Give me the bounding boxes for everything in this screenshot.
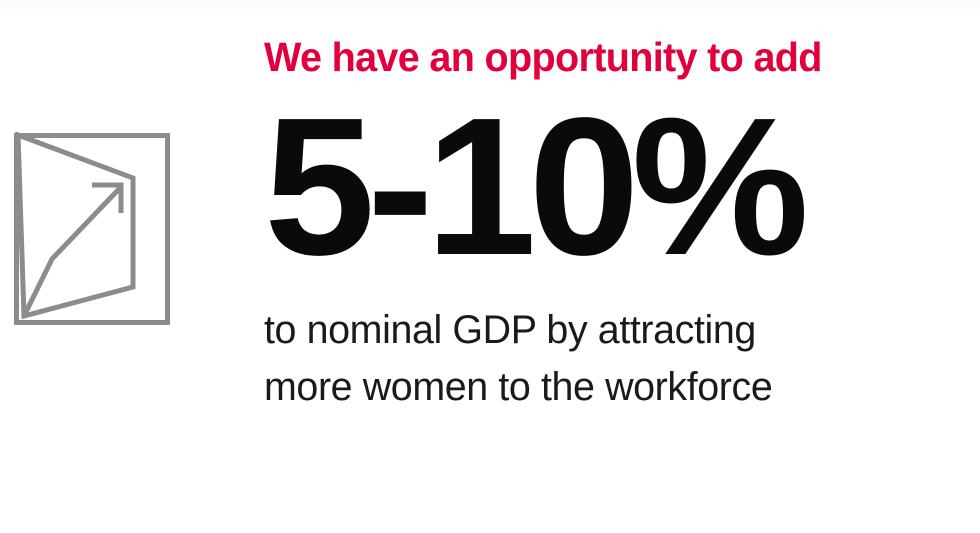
stat-eyebrow: We have an opportunity to add <box>264 34 940 80</box>
stat-callout-card: We have an opportunity to add 5-10% to n… <box>0 0 980 533</box>
stat-subtext: to nominal GDP by attracting more women … <box>264 280 954 416</box>
stat-text-column: We have an opportunity to add 5-10% to n… <box>264 34 964 416</box>
stat-subtext-line-1: to nominal GDP by attracting <box>264 302 954 359</box>
growth-chart-frame-icon <box>8 127 174 329</box>
stat-subtext-line-2: more women to the workforce <box>264 359 954 416</box>
stat-headline-value: 5-10% <box>264 80 978 280</box>
